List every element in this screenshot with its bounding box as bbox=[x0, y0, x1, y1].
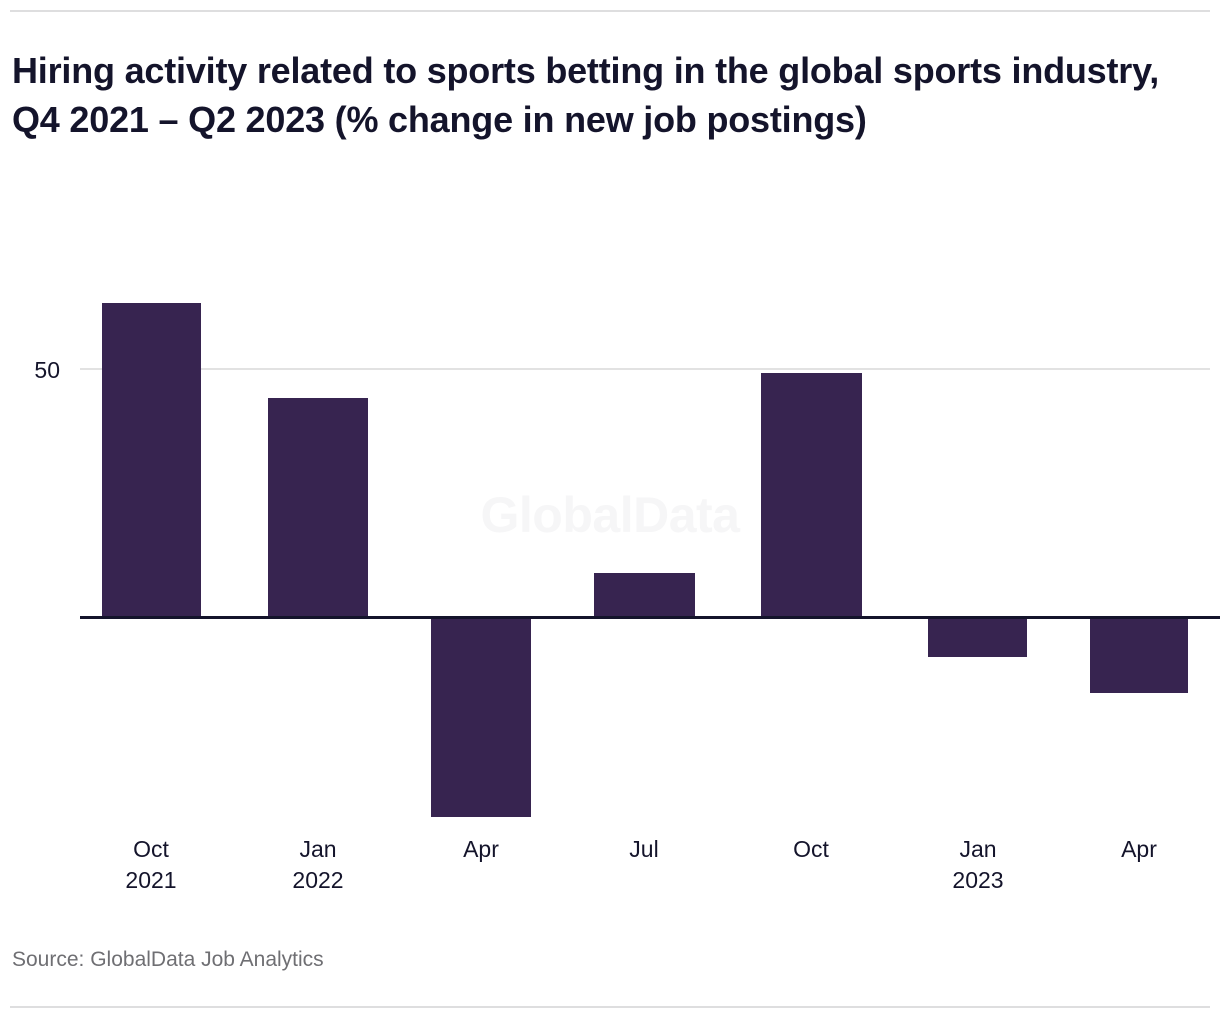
x-tick-oct-2021: Oct 2021 bbox=[71, 834, 231, 896]
x-tick-apr-2022: Apr bbox=[401, 834, 561, 865]
x-tick-jan-2022: Jan 2022 bbox=[238, 834, 398, 896]
x-tick-month: Oct bbox=[731, 834, 891, 865]
x-tick-month: Oct bbox=[71, 834, 231, 865]
plot-area: GlobalData 50 bbox=[0, 0, 1220, 830]
x-tick-year: 2023 bbox=[898, 865, 1058, 896]
bar-jul-2022[interactable] bbox=[594, 573, 695, 617]
x-tick-month: Jul bbox=[564, 834, 724, 865]
bottom-divider bbox=[10, 1006, 1210, 1008]
bar-apr-2022[interactable] bbox=[431, 619, 531, 817]
x-tick-oct-2022: Oct bbox=[731, 834, 891, 865]
gridline-50 bbox=[80, 368, 1210, 370]
x-tick-month: Jan bbox=[238, 834, 398, 865]
bar-oct-2022[interactable] bbox=[761, 373, 862, 617]
zero-baseline bbox=[80, 616, 1220, 619]
x-tick-apr-2023: Apr bbox=[1059, 834, 1219, 865]
x-tick-month: Apr bbox=[401, 834, 561, 865]
x-tick-year: 2021 bbox=[71, 865, 231, 896]
x-tick-month: Apr bbox=[1059, 834, 1219, 865]
chart-card: Hiring activity related to sports bettin… bbox=[0, 0, 1220, 1020]
x-axis: Oct 2021 Jan 2022 Apr Jul Oct Jan 2023 A… bbox=[0, 834, 1220, 904]
bar-jan-2022[interactable] bbox=[268, 398, 368, 617]
x-tick-jan-2023: Jan 2023 bbox=[898, 834, 1058, 896]
bar-apr-2023[interactable] bbox=[1090, 619, 1188, 693]
x-tick-year: 2022 bbox=[238, 865, 398, 896]
y-axis-tick-label-50: 50 bbox=[34, 359, 60, 382]
bar-oct-2021[interactable] bbox=[102, 303, 201, 617]
bar-jan-2023[interactable] bbox=[928, 619, 1027, 657]
source-note: Source: GlobalData Job Analytics bbox=[12, 947, 324, 973]
x-tick-month: Jan bbox=[898, 834, 1058, 865]
x-tick-jul-2022: Jul bbox=[564, 834, 724, 865]
